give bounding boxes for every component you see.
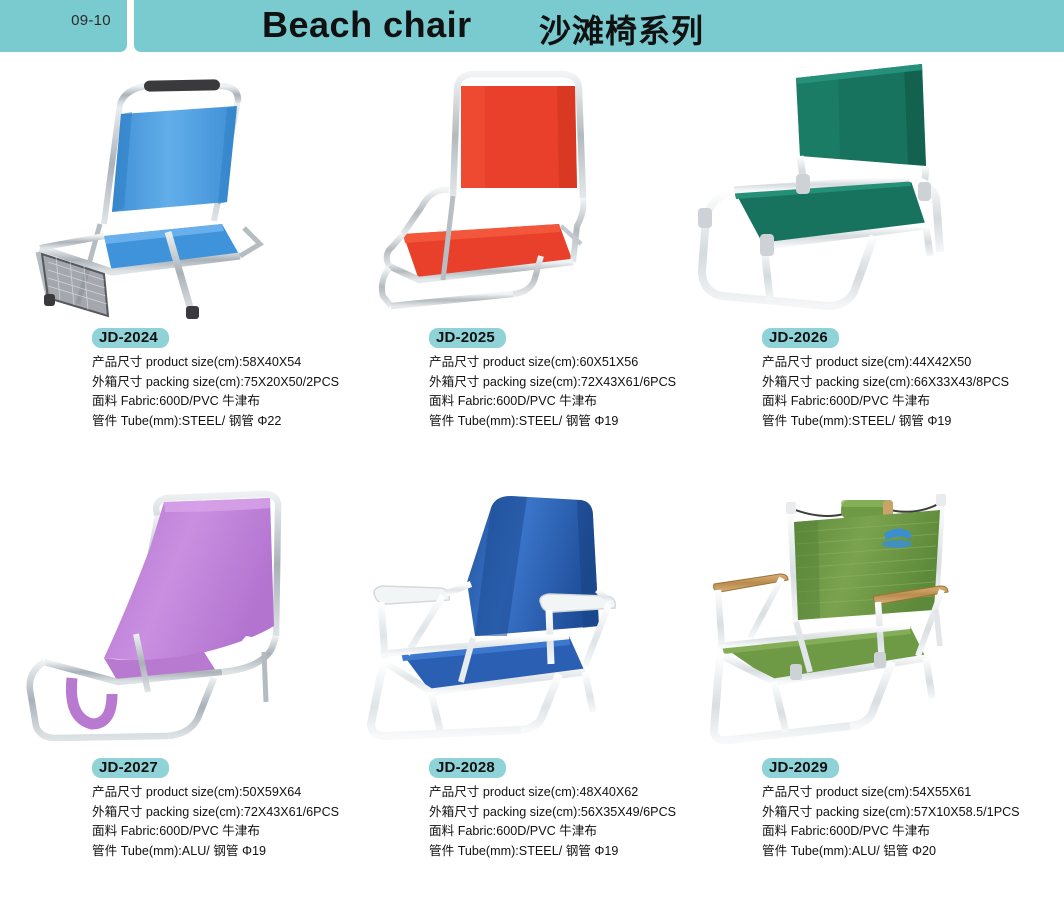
label-fabric-en: Fabric: (791, 824, 830, 838)
product-code: JD-2027 (92, 758, 169, 778)
handle-grip (144, 79, 220, 91)
value-product-size: 44X42X50 (912, 355, 971, 369)
spec-packing-size: 外箱尺寸 packing size(cm):56X35X49/6PCS (429, 803, 683, 823)
value-packing-size: 57X10X58.5/1PCS (914, 805, 1020, 819)
product-code: JD-2029 (762, 758, 839, 778)
label-fabric-en: Fabric: (791, 394, 830, 408)
label-packing-size-cn: 外箱尺寸 (762, 375, 812, 389)
product-card[interactable]: JD-2026 产品尺寸 product size(cm):44X42X50 外… (678, 56, 1016, 486)
label-packing-size-en: packing size(cm): (146, 375, 244, 389)
label-tube-cn: 管件 (762, 414, 787, 428)
spec-packing-size: 外箱尺寸 packing size(cm):66X33X43/8PCS (762, 373, 1016, 393)
value-product-size: 58X40X54 (242, 355, 301, 369)
label-packing-size-cn: 外箱尺寸 (429, 805, 479, 819)
value-product-size: 54X55X61 (912, 785, 971, 799)
product-code: JD-2026 (762, 328, 839, 348)
product-spec: JD-2025 产品尺寸 product size(cm):60X51X56 外… (429, 328, 683, 431)
product-grid: JD-2024 产品尺寸 product size(cm):58X40X54 外… (0, 56, 1064, 916)
label-fabric-cn: 面料 (429, 394, 454, 408)
label-tube-en: Tube(mm): (791, 414, 852, 428)
label-tube-en: Tube(mm): (121, 414, 182, 428)
label-fabric-en: Fabric: (121, 824, 160, 838)
value-tube: STEEL/ 钢管 Φ19 (852, 414, 952, 428)
value-product-size: 48X40X62 (579, 785, 638, 799)
spec-tube: 管件 Tube(mm):STEEL/ 钢管 Φ19 (762, 412, 1016, 432)
page-title-cn: 沙滩椅系列 (539, 6, 704, 52)
label-tube-en: Tube(mm): (121, 844, 182, 858)
label-packing-size-en: packing size(cm): (146, 805, 244, 819)
value-packing-size: 75X20X50/2PCS (244, 375, 339, 389)
product-card[interactable]: JD-2025 产品尺寸 product size(cm):60X51X56 外… (345, 56, 683, 486)
product-code: JD-2028 (429, 758, 506, 778)
value-fabric: 600D/PVC 牛津布 (159, 394, 260, 408)
label-product-size-cn: 产品尺寸 (762, 355, 812, 369)
spec-product-size: 产品尺寸 product size(cm):54X55X61 (762, 783, 1016, 803)
spec-fabric: 面料 Fabric:600D/PVC 牛津布 (429, 392, 683, 412)
product-image-beach-chair-green-white-frame (678, 56, 1016, 321)
label-tube-en: Tube(mm): (458, 844, 519, 858)
label-packing-size-en: packing size(cm): (816, 805, 914, 819)
label-tube-cn: 管件 (762, 844, 787, 858)
label-fabric-en: Fabric: (458, 824, 497, 838)
product-image-beach-chair-blue-mesh-pocket (8, 56, 346, 321)
product-image-beach-chair-purple-sling (8, 486, 346, 751)
product-row: JD-2024 产品尺寸 product size(cm):58X40X54 外… (0, 56, 1064, 486)
label-fabric-en: Fabric: (458, 394, 497, 408)
spec-product-size: 产品尺寸 product size(cm):60X51X56 (429, 353, 683, 373)
value-tube: ALU/ 铝管 Φ20 (852, 844, 936, 858)
page-title-en: Beach chair (262, 4, 472, 46)
spec-tube: 管件 Tube(mm):STEEL/ 钢管 Φ22 (92, 412, 346, 432)
spec-fabric: 面料 Fabric:600D/PVC 牛津布 (92, 822, 346, 842)
page-number: 09-10 (60, 12, 122, 29)
product-spec: JD-2028 产品尺寸 product size(cm):48X40X62 外… (429, 758, 683, 861)
label-fabric-en: Fabric: (121, 394, 160, 408)
label-tube-cn: 管件 (429, 844, 454, 858)
product-spec: JD-2027 产品尺寸 product size(cm):50X59X64 外… (92, 758, 346, 861)
product-card[interactable]: JD-2028 产品尺寸 product size(cm):48X40X62 外… (345, 486, 683, 916)
value-tube: STEEL/ 钢管 Φ19 (519, 844, 619, 858)
label-tube-en: Tube(mm): (791, 844, 852, 858)
label-product-size-cn: 产品尺寸 (762, 785, 812, 799)
label-product-size-cn: 产品尺寸 (92, 355, 142, 369)
spec-product-size: 产品尺寸 product size(cm):48X40X62 (429, 783, 683, 803)
label-packing-size-cn: 外箱尺寸 (92, 375, 142, 389)
spec-fabric: 面料 Fabric:600D/PVC 牛津布 (762, 392, 1016, 412)
label-tube-en: Tube(mm): (458, 414, 519, 428)
value-fabric: 600D/PVC 牛津布 (829, 824, 930, 838)
spec-packing-size: 外箱尺寸 packing size(cm):75X20X50/2PCS (92, 373, 346, 393)
label-packing-size-cn: 外箱尺寸 (762, 805, 812, 819)
spec-tube: 管件 Tube(mm):STEEL/ 钢管 Φ19 (429, 842, 683, 862)
label-tube-cn: 管件 (92, 844, 117, 858)
label-product-size-en: product size(cm): (816, 785, 913, 799)
product-spec: JD-2024 产品尺寸 product size(cm):58X40X54 外… (92, 328, 346, 431)
product-card[interactable]: JD-2029 产品尺寸 product size(cm):54X55X61 外… (678, 486, 1016, 916)
spec-fabric: 面料 Fabric:600D/PVC 牛津布 (92, 392, 346, 412)
label-product-size-en: product size(cm): (483, 355, 580, 369)
label-fabric-cn: 面料 (429, 824, 454, 838)
spec-packing-size: 外箱尺寸 packing size(cm):72X43X61/6PCS (429, 373, 683, 393)
value-tube: STEEL/ 钢管 Φ19 (519, 414, 619, 428)
value-product-size: 60X51X56 (579, 355, 638, 369)
spec-packing-size: 外箱尺寸 packing size(cm):72X43X61/6PCS (92, 803, 346, 823)
product-image-beach-chair-red-low (345, 56, 683, 321)
spec-tube: 管件 Tube(mm):STEEL/ 钢管 Φ19 (429, 412, 683, 432)
product-image-beach-chair-blue-armrest (345, 486, 683, 751)
label-packing-size-en: packing size(cm): (816, 375, 914, 389)
label-fabric-cn: 面料 (762, 394, 787, 408)
page-header: 09-10 Beach chair 沙滩椅系列 (0, 0, 1064, 56)
product-code: JD-2024 (92, 328, 169, 348)
value-fabric: 600D/PVC 牛津布 (159, 824, 260, 838)
spec-product-size: 产品尺寸 product size(cm):58X40X54 (92, 353, 346, 373)
label-packing-size-en: packing size(cm): (483, 375, 581, 389)
label-fabric-cn: 面料 (92, 394, 117, 408)
product-card[interactable]: JD-2024 产品尺寸 product size(cm):58X40X54 外… (8, 56, 346, 486)
product-image-beach-chair-green-wood-armrest (678, 486, 1016, 751)
value-fabric: 600D/PVC 牛津布 (829, 394, 930, 408)
value-fabric: 600D/PVC 牛津布 (496, 394, 597, 408)
spec-fabric: 面料 Fabric:600D/PVC 牛津布 (762, 822, 1016, 842)
label-product-size-en: product size(cm): (146, 785, 243, 799)
spec-fabric: 面料 Fabric:600D/PVC 牛津布 (429, 822, 683, 842)
label-product-size-en: product size(cm): (146, 355, 243, 369)
label-packing-size-en: packing size(cm): (483, 805, 581, 819)
value-packing-size: 66X33X43/8PCS (914, 375, 1009, 389)
value-packing-size: 72X43X61/6PCS (581, 375, 676, 389)
label-tube-cn: 管件 (92, 414, 117, 428)
label-tube-cn: 管件 (429, 414, 454, 428)
spec-packing-size: 外箱尺寸 packing size(cm):57X10X58.5/1PCS (762, 803, 1016, 823)
value-packing-size: 56X35X49/6PCS (581, 805, 676, 819)
label-fabric-cn: 面料 (762, 824, 787, 838)
spec-tube: 管件 Tube(mm):ALU/ 铝管 Φ20 (762, 842, 1016, 862)
label-packing-size-cn: 外箱尺寸 (92, 805, 142, 819)
value-tube: STEEL/ 钢管 Φ22 (182, 414, 282, 428)
label-product-size-cn: 产品尺寸 (92, 785, 142, 799)
label-product-size-en: product size(cm): (483, 785, 580, 799)
label-fabric-cn: 面料 (92, 824, 117, 838)
label-product-size-cn: 产品尺寸 (429, 355, 479, 369)
product-spec: JD-2029 产品尺寸 product size(cm):54X55X61 外… (762, 758, 1016, 861)
value-product-size: 50X59X64 (242, 785, 301, 799)
value-packing-size: 72X43X61/6PCS (244, 805, 339, 819)
product-code: JD-2025 (429, 328, 506, 348)
value-tube: ALU/ 钢管 Φ19 (182, 844, 266, 858)
product-card[interactable]: JD-2027 产品尺寸 product size(cm):50X59X64 外… (8, 486, 346, 916)
value-fabric: 600D/PVC 牛津布 (496, 824, 597, 838)
product-row: JD-2027 产品尺寸 product size(cm):50X59X64 外… (0, 486, 1064, 916)
spec-product-size: 产品尺寸 product size(cm):44X42X50 (762, 353, 1016, 373)
label-product-size-en: product size(cm): (816, 355, 913, 369)
label-packing-size-cn: 外箱尺寸 (429, 375, 479, 389)
spec-tube: 管件 Tube(mm):ALU/ 钢管 Φ19 (92, 842, 346, 862)
spec-product-size: 产品尺寸 product size(cm):50X59X64 (92, 783, 346, 803)
label-product-size-cn: 产品尺寸 (429, 785, 479, 799)
product-spec: JD-2026 产品尺寸 product size(cm):44X42X50 外… (762, 328, 1016, 431)
